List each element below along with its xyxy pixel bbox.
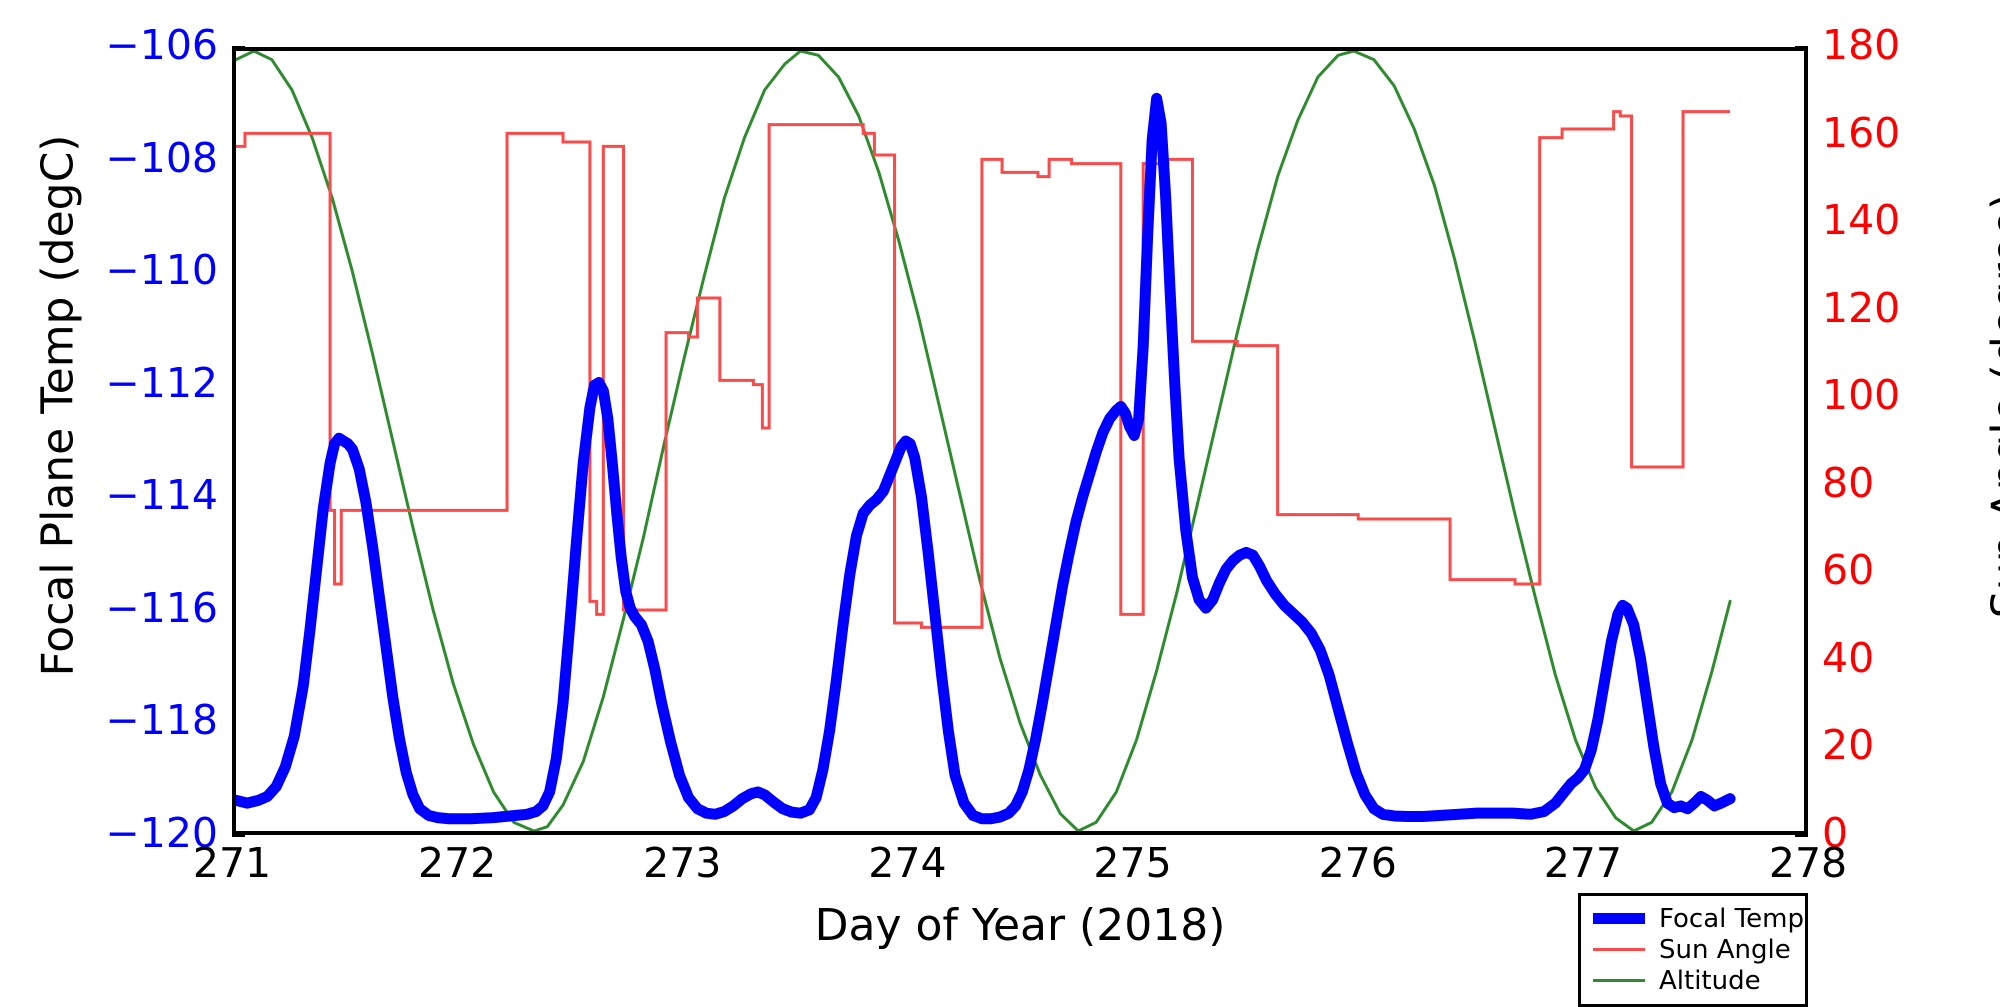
y-tick-left-0: −106 <box>0 25 218 66</box>
y-tick-right-3: 120 <box>1822 288 1900 329</box>
legend-swatch-altitude <box>1591 979 1647 982</box>
y-tick-right-4: 100 <box>1822 375 1900 416</box>
y-axis-right-title: Sun Angle (degree) <box>1983 86 2000 726</box>
y-tick-left-5: −116 <box>0 588 218 629</box>
legend-item-sun-angle: Sun Angle <box>1591 934 1795 965</box>
y-tick-left-6: −118 <box>0 700 218 741</box>
x-tick-2: 273 <box>602 843 762 884</box>
y-tick-right-5: 80 <box>1822 463 1874 504</box>
x-tick-0: 271 <box>152 843 312 884</box>
x-tick-7: 278 <box>1728 843 1888 884</box>
legend-label-focal-temp: Focal Temp <box>1647 904 1804 934</box>
legend-label-sun-angle: Sun Angle <box>1647 935 1791 965</box>
y-tick-left-3: −112 <box>0 363 218 404</box>
series-canvas <box>236 51 1804 831</box>
legend-item-focal-temp: Focal Temp <box>1591 903 1795 934</box>
y-axis-left-title: Focal Plane Temp (degC) <box>33 86 84 726</box>
y-tick-right-2: 140 <box>1822 200 1900 241</box>
x-tick-3: 274 <box>827 843 987 884</box>
x-tick-6: 277 <box>1503 843 1663 884</box>
chart-root: Focal Plane Temp (degC) Sun Angle (degre… <box>0 0 2000 1000</box>
legend-swatch-sun-angle <box>1591 948 1647 951</box>
y-tick-right-0: 180 <box>1822 25 1900 66</box>
y-tick-right-7: 40 <box>1822 638 1874 679</box>
y-tick-right-8: 20 <box>1822 725 1874 766</box>
y-tick-left-2: −110 <box>0 250 218 291</box>
chart-legend: Focal Temp Sun Angle Altitude <box>1578 893 1808 1007</box>
x-tick-4: 275 <box>1053 843 1213 884</box>
sun-angle-line <box>236 112 1730 628</box>
y-tick-left-1: −108 <box>0 138 218 179</box>
x-axis-title: Day of Year (2018) <box>232 900 1808 951</box>
legend-swatch-focal-temp <box>1591 913 1647 924</box>
y-tick-right-1: 160 <box>1822 113 1900 154</box>
x-tick-1: 272 <box>377 843 537 884</box>
legend-item-altitude: Altitude <box>1591 965 1795 996</box>
y-tick-left-4: −114 <box>0 475 218 516</box>
legend-label-altitude: Altitude <box>1647 966 1761 996</box>
plot-area <box>232 47 1808 835</box>
y-tick-right-6: 60 <box>1822 550 1874 591</box>
x-tick-5: 276 <box>1278 843 1438 884</box>
